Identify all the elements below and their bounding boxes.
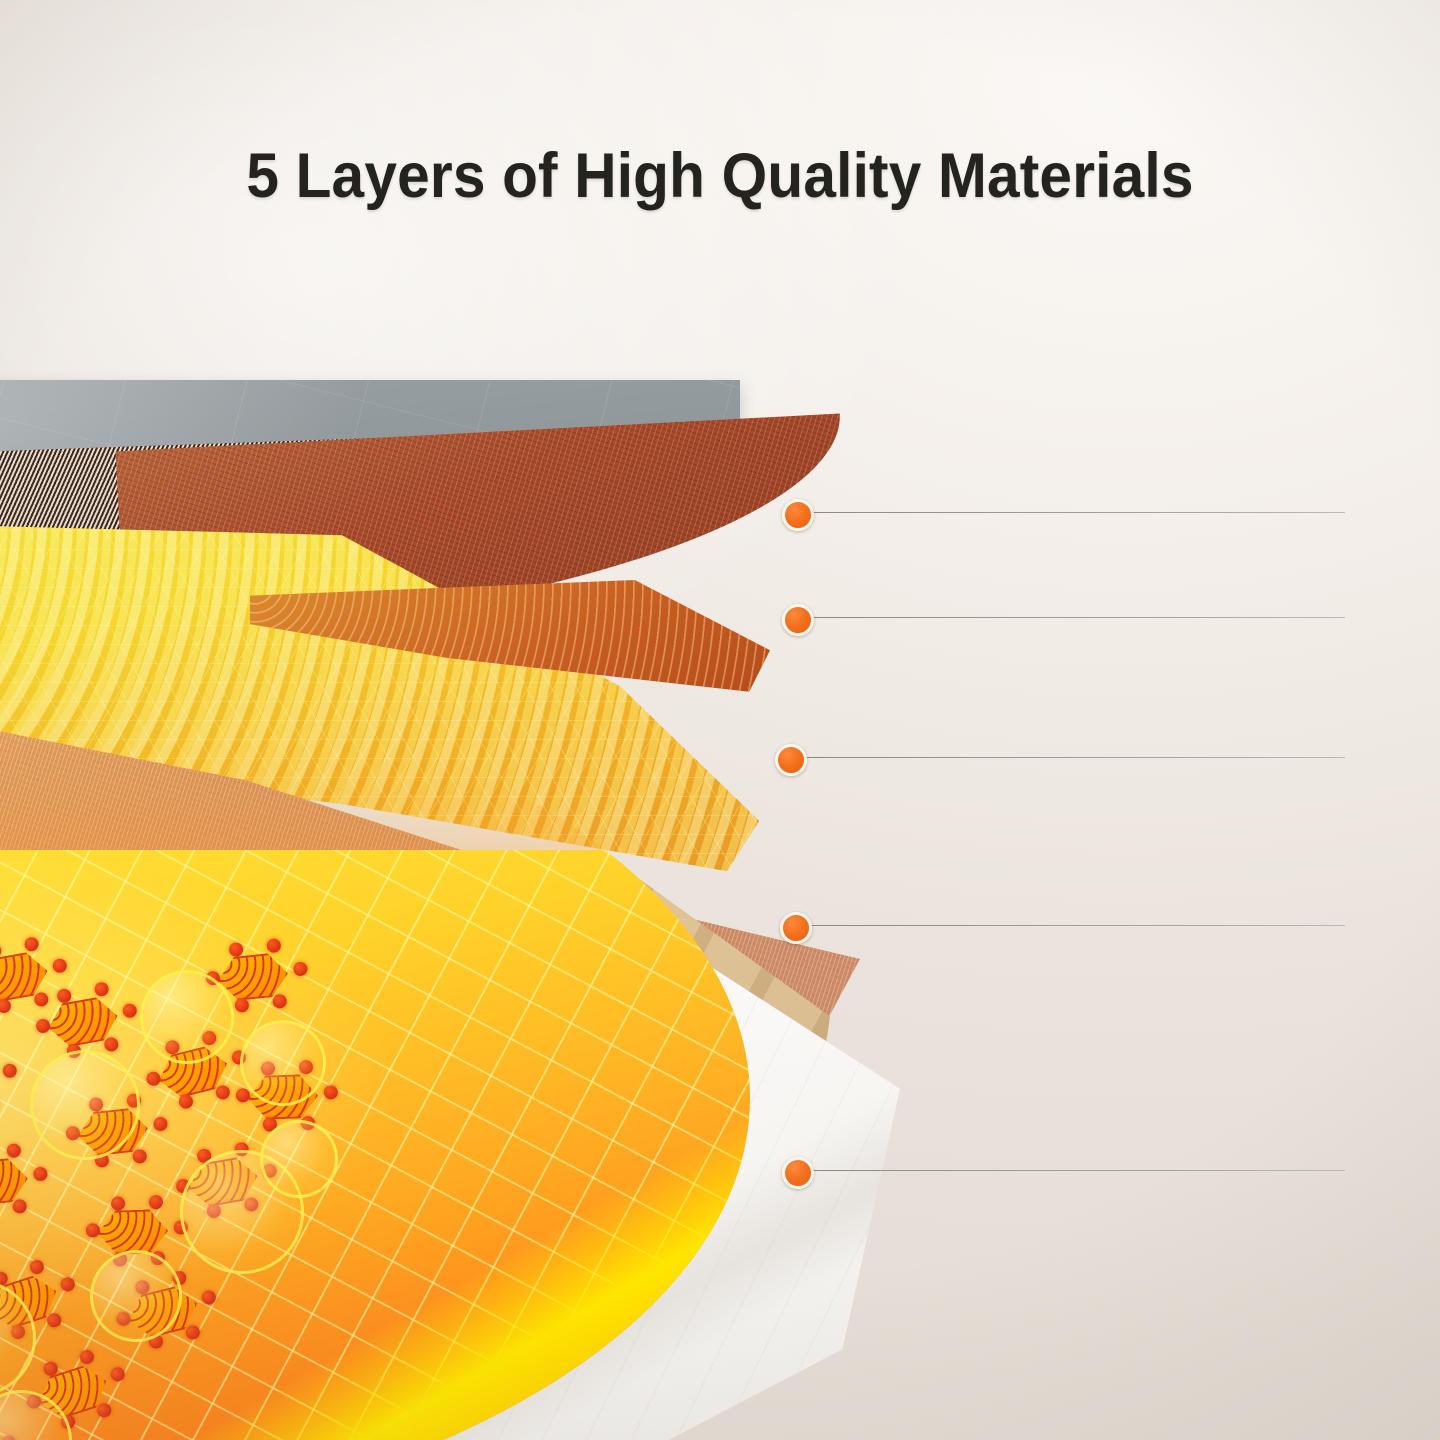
callout-leader-line (803, 925, 1345, 926)
callout-marker-dot[interactable] (782, 604, 814, 636)
callout-leader-line (805, 512, 1345, 513)
callout-leader-line (805, 1170, 1345, 1171)
callout-leader-line (798, 757, 1345, 758)
infographic-canvas: 5 Layers of High Quality Materials Cryst… (0, 0, 1440, 1440)
callout-leader-line (805, 617, 1345, 618)
callout-marker-dot[interactable] (780, 912, 812, 944)
callout-marker-dot[interactable] (775, 744, 807, 776)
callout-marker-dot[interactable] (782, 499, 814, 531)
background-vignette (0, 0, 1440, 1440)
page-title: 5 Layers of High Quality Materials (50, 140, 1389, 212)
callout-marker-dot[interactable] (782, 1157, 814, 1189)
